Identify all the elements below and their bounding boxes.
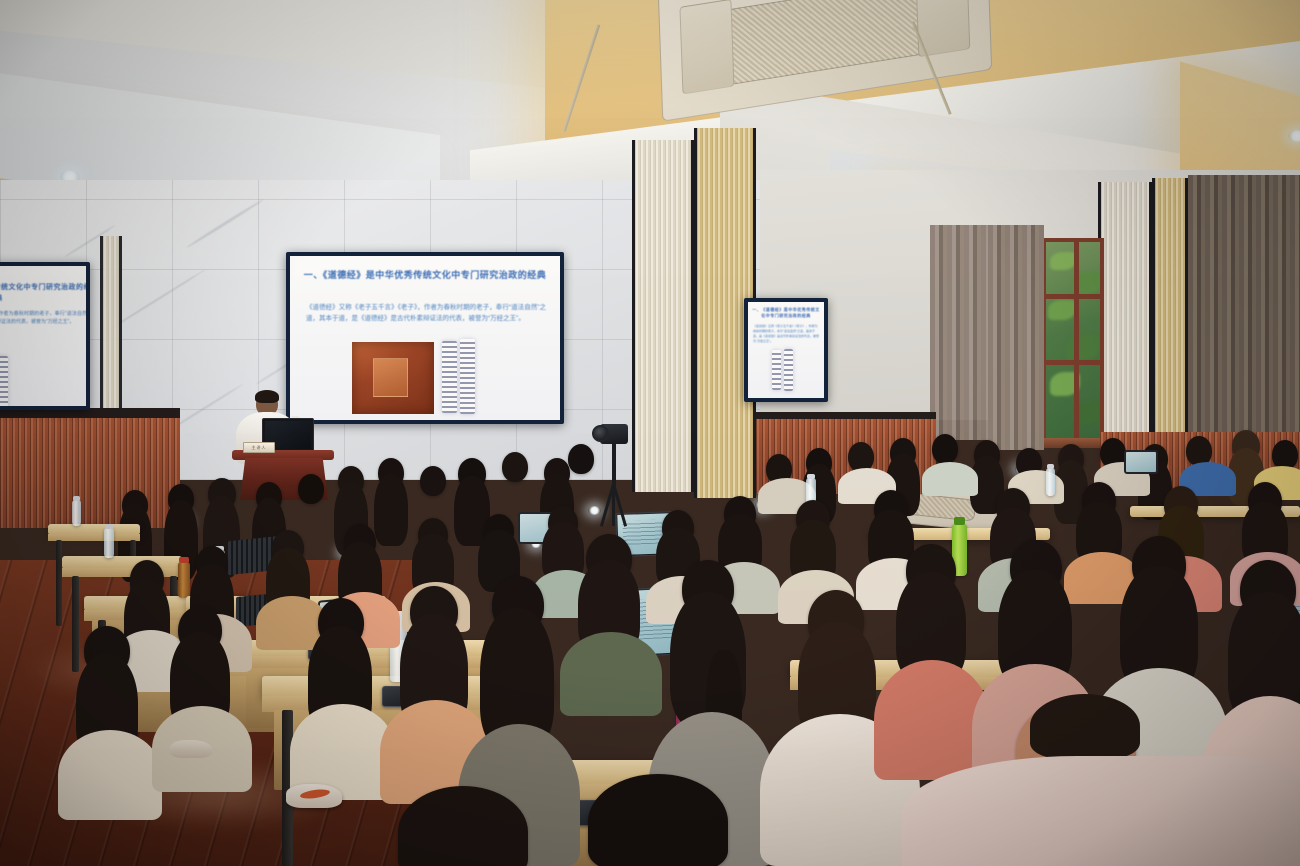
foreground-person-shoulders (902, 756, 1300, 866)
audience-head (932, 434, 958, 464)
curtain-left-of-window (988, 225, 1044, 450)
right-screen-surface: 一、《道德经》是中华优秀传统文化中专门研究治政的经典 《道德经》又称《老子五千言… (748, 302, 824, 398)
audience-head (420, 466, 446, 496)
bottle-cap (954, 517, 965, 525)
audience-head (502, 452, 528, 482)
right-slide-body: 《道德经》又称《老子五千言》《老子》，作者为春秋时期的老子，奉行“道法自然”之道… (753, 324, 819, 344)
desk-leg (72, 576, 79, 672)
left-screen-surface: 一、《道德经》是中华优秀传统文化中专门研究治政的经典 《道德经》又称《老子五千言… (0, 266, 86, 406)
bamboo-slip-rubbing (784, 349, 793, 391)
audience-shoulders (560, 632, 662, 716)
tripod-leg (612, 484, 615, 526)
bottle-cap (807, 474, 815, 479)
left-slide-body: 《道德经》又称《老子五千言》《老子》，作者为春秋时期的老子，奉行“道法自然”之道… (0, 310, 86, 326)
recessed-downlight (588, 506, 601, 515)
slide-title: 一、《道德经》是中华优秀传统文化中专门研究治政的经典 (302, 268, 548, 283)
bamboo-slip-rubbing (772, 350, 781, 390)
left-slide-title: 一、《道德经》是中华优秀传统文化中专门研究治政的经典 (0, 282, 86, 304)
desk-leg (56, 540, 62, 626)
water-bottle (72, 500, 81, 526)
fluted-column-pilaster (1152, 178, 1188, 440)
audience-shoulders (58, 730, 162, 820)
audience-head (298, 474, 324, 504)
speaker-nameplate: 主讲人 (243, 442, 275, 453)
recessed-downlight (1288, 130, 1300, 142)
bottle-cap (179, 557, 188, 563)
wainscot-left (0, 418, 180, 528)
bottle-cap (73, 496, 80, 500)
audience-head (568, 444, 594, 474)
bottle-cap (1047, 464, 1054, 468)
lecture-hall-photograph: 一、《道德经》是中华优秀传统文化中专门研究治政的经典 《道德经》又称《老子五千言… (0, 0, 1300, 866)
audience-shoulders (922, 462, 978, 496)
slide-body: 《道德经》又称《老子五千言》《老子》，作者为春秋时期的老子，奉行“道法自然”之道… (306, 302, 546, 324)
window-mullion (1074, 242, 1079, 439)
left-projection-screen: 一、《道德经》是中华优秀传统文化中专门研究治政的经典 《道德经》又称《老子五千言… (0, 262, 90, 410)
marble-vein (186, 198, 264, 248)
audience-hair (374, 474, 408, 546)
bamboo-slip-rubbing (442, 341, 457, 413)
fluted-column-pilaster (1098, 182, 1152, 442)
foliage (1050, 252, 1076, 270)
foliage (1048, 300, 1076, 320)
window-mullion (1046, 360, 1100, 365)
window (1042, 238, 1104, 443)
curtain-right (1188, 175, 1300, 445)
bamboo-slip-rubbing (0, 356, 8, 406)
desk-edge (62, 568, 182, 577)
desk-edge (48, 534, 140, 541)
camera-lens-icon (592, 425, 609, 442)
curtain-far-right (930, 225, 988, 440)
tripod-column (612, 444, 616, 486)
fluted-column-cream (632, 140, 694, 492)
water-bottle (104, 528, 114, 558)
foreground-person-hair (1030, 694, 1140, 758)
bottle-cap (105, 524, 113, 529)
center-projection-screen: 一、《道德经》是中华优秀传统文化中专门研究治政的经典 《道德经》又称《老子五千言… (286, 252, 564, 424)
center-screen-surface: 一、《道德经》是中华优秀传统文化中专门研究治政的经典 《道德经》又称《老子五千言… (290, 256, 560, 420)
ac-vane (679, 0, 735, 95)
ac-grille (725, 0, 924, 85)
iced-tea-bottle (178, 562, 190, 598)
right-projection-screen: 一、《道德经》是中华优秀传统文化中专门研究治政的经典 《道德经》又称《老子五千言… (744, 298, 828, 402)
window-mullion (1046, 294, 1100, 299)
water-bottle (1046, 468, 1055, 496)
shoe (170, 740, 212, 758)
foreground-head-center (588, 774, 728, 866)
bamboo-slip-photo (352, 342, 434, 414)
right-slide-title: 一、《道德经》是中华优秀传统文化中专门研究治政的经典 (752, 307, 820, 319)
speaker-hair (255, 390, 279, 403)
foliage (1066, 334, 1100, 360)
bamboo-slip-rubbing (460, 339, 475, 414)
tablet[interactable] (1124, 450, 1158, 474)
